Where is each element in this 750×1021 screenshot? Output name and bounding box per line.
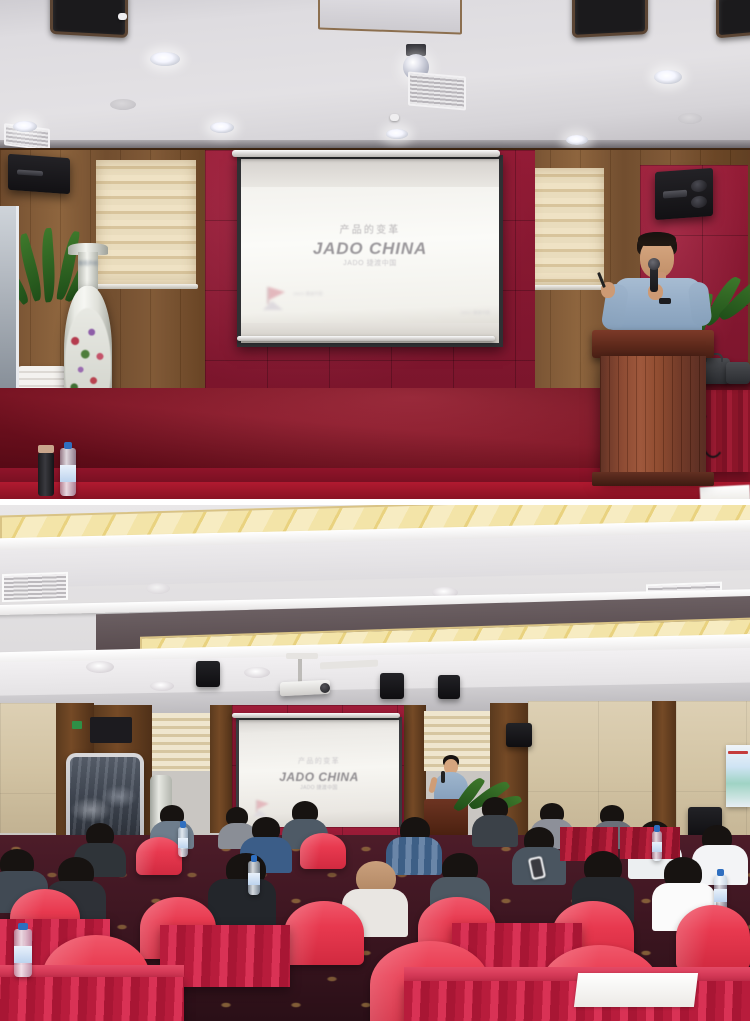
- water-bottle-b1: [178, 827, 188, 857]
- projection-screen: 产品的变革 JADO CHINA JADO 捷渡中国 JADO 捷渡中国 JAD…: [237, 155, 503, 347]
- wood-divider-center: [404, 705, 426, 835]
- bottle-cap-m2: [717, 869, 724, 876]
- speaker-cone-right-1: [691, 179, 707, 192]
- window-blinds-left: [96, 160, 196, 285]
- water-bottle-b2: [652, 831, 662, 861]
- ceiling-speaker-right: [572, 0, 648, 38]
- slide-logo-caption: JADO 捷渡中国: [293, 291, 323, 297]
- slide-brand-text: JADO CHINA: [241, 239, 499, 259]
- poster-accent-bar: [728, 751, 748, 754]
- slide-brand-subtext: JADO 捷渡中国: [241, 258, 499, 268]
- chair-back-2: [300, 833, 346, 869]
- microphone-head: [648, 258, 660, 270]
- downlight-8: [678, 113, 702, 124]
- ceiling-downlight-e: [150, 681, 174, 691]
- ceiling-speaker-b3: [438, 675, 460, 699]
- phone-screen: [530, 858, 544, 878]
- ceiling-downlight-c: [86, 661, 114, 673]
- flag-banner: [269, 287, 285, 300]
- smoke-detector-2: [118, 13, 127, 20]
- ceiling-recess-panel: [318, 0, 462, 35]
- slide-corner-mark: JADO 捷渡中国: [460, 310, 490, 316]
- bottle-label-b2: [652, 842, 662, 852]
- bottle-label-b1: [178, 838, 188, 848]
- bottle-cap-m1: [251, 855, 258, 862]
- bottle-cap-b1: [180, 821, 186, 828]
- smoke-detector: [390, 114, 399, 121]
- screen-surface-b: 产品的变革 JADO CHINA JADO 捷渡中国: [239, 720, 399, 830]
- chair-mid-3: [284, 901, 364, 965]
- ceiling-speaker-b1: [196, 661, 220, 687]
- screen-surface: 产品的变革 JADO CHINA JADO 捷渡中国 JADO 捷渡中国 JAD…: [241, 159, 499, 343]
- flag-hill: [263, 301, 283, 310]
- window-blinds-right: [528, 168, 604, 286]
- water-bottle-m1: [248, 861, 260, 895]
- downlight-7: [566, 135, 588, 145]
- wall-tv-left: [90, 717, 132, 743]
- window-blinds-b-left: [150, 713, 212, 771]
- photo-collage-page: 产品的变革 JADO CHINA JADO 捷渡中国 JADO 捷渡中国 JAD…: [0, 0, 750, 1021]
- slide-brand-subtext-b: JADO 捷渡中国: [239, 784, 399, 791]
- table-front-left: [0, 977, 184, 1021]
- bottle-cap-front: [18, 923, 28, 930]
- ceiling-air-vent-center: [408, 71, 466, 110]
- speaker-badge-right: [663, 190, 687, 198]
- bottle-label-front: [14, 946, 32, 962]
- bottle-label-m1: [248, 873, 260, 885]
- chair-mid-6: [676, 905, 750, 969]
- vase-neck: [78, 252, 98, 290]
- slide-headline-cn: 产品的变革: [241, 221, 499, 236]
- ceiling-speaker-left: [50, 0, 128, 38]
- downlight-1: [150, 52, 180, 66]
- wall-speaker-b-left: [506, 723, 532, 747]
- screen-top-band: [241, 159, 499, 187]
- exit-sign: [72, 721, 82, 729]
- ceiling-speaker-b2: [380, 673, 404, 699]
- ceiling-downlight-d: [244, 667, 270, 678]
- water-bottle-front: [14, 929, 32, 977]
- audience-torso-r1-c: [472, 815, 518, 847]
- vase-inscription: 题花卉纹: [76, 262, 100, 267]
- downlight-5: [13, 121, 37, 132]
- slide-flag-logo: [263, 287, 297, 313]
- wall-speaker-right: [655, 168, 713, 220]
- projector-mount-arm: [298, 657, 302, 683]
- audience-torso-m-c: [208, 879, 276, 927]
- microphone-b: [441, 771, 445, 783]
- slide-brand-text-b: JADO CHINA: [239, 770, 399, 784]
- ceiling-vent-left: [2, 572, 68, 602]
- slide-headline-cn-b: 产品的变革: [239, 756, 399, 766]
- flag-hill-b: [253, 810, 267, 816]
- blinds-rail-right: [526, 285, 606, 290]
- wall-poster-right: [726, 745, 750, 807]
- top-photo-speaker-at-podium: 产品的变革 JADO CHINA JADO 捷渡中国 JADO 捷渡中国 JAD…: [0, 0, 750, 503]
- paper-handout: [574, 973, 698, 1007]
- water-bottle-stage: [60, 448, 76, 496]
- downlight-6: [386, 129, 408, 139]
- projector-lens: [320, 683, 330, 693]
- downlight-2: [654, 70, 682, 84]
- speaker-cone-right-2: [691, 195, 707, 208]
- slide-flag-logo-b: [253, 800, 270, 813]
- projector-ceiling-plate: [286, 653, 318, 659]
- audience-torso-r2-c-striped: [386, 837, 442, 875]
- presenter-hairline: [638, 232, 676, 246]
- table-skirt-back-right-2: [620, 827, 680, 859]
- wall-speaker-left: [8, 154, 70, 194]
- screen-bottom-bar: [237, 336, 495, 341]
- bottle-cap: [64, 442, 73, 449]
- podium-top: [592, 330, 714, 358]
- screen-roller-housing: [232, 150, 500, 157]
- podium-base: [592, 472, 714, 486]
- presenter-wristwatch: [659, 298, 671, 304]
- thermos-cap: [38, 445, 54, 453]
- black-thermos: [38, 452, 54, 496]
- screen-roller-housing-b: [232, 713, 400, 718]
- bottle-cap-b2: [654, 825, 660, 832]
- bottle-label: [60, 465, 76, 481]
- bottle-label-m2: [714, 889, 727, 902]
- ceiling-downlight-b: [146, 583, 170, 594]
- flag-banner-b: [257, 800, 269, 809]
- wooden-podium: [600, 356, 706, 478]
- laptop-bag-2: [726, 362, 750, 384]
- blinds-rail-left: [94, 284, 198, 289]
- downlight-3: [110, 99, 136, 110]
- speaker-badge-left: [17, 170, 43, 177]
- projection-screen-b: 产品的变革 JADO CHINA JADO 捷渡中国: [236, 717, 402, 833]
- chair-back-1: [136, 837, 182, 875]
- bottom-photo-audience-view: 产品的变革 JADO CHINA JADO 捷渡中国: [0, 505, 750, 1021]
- ceiling-speaker-far-right: [716, 0, 750, 38]
- downlight-4: [210, 122, 234, 133]
